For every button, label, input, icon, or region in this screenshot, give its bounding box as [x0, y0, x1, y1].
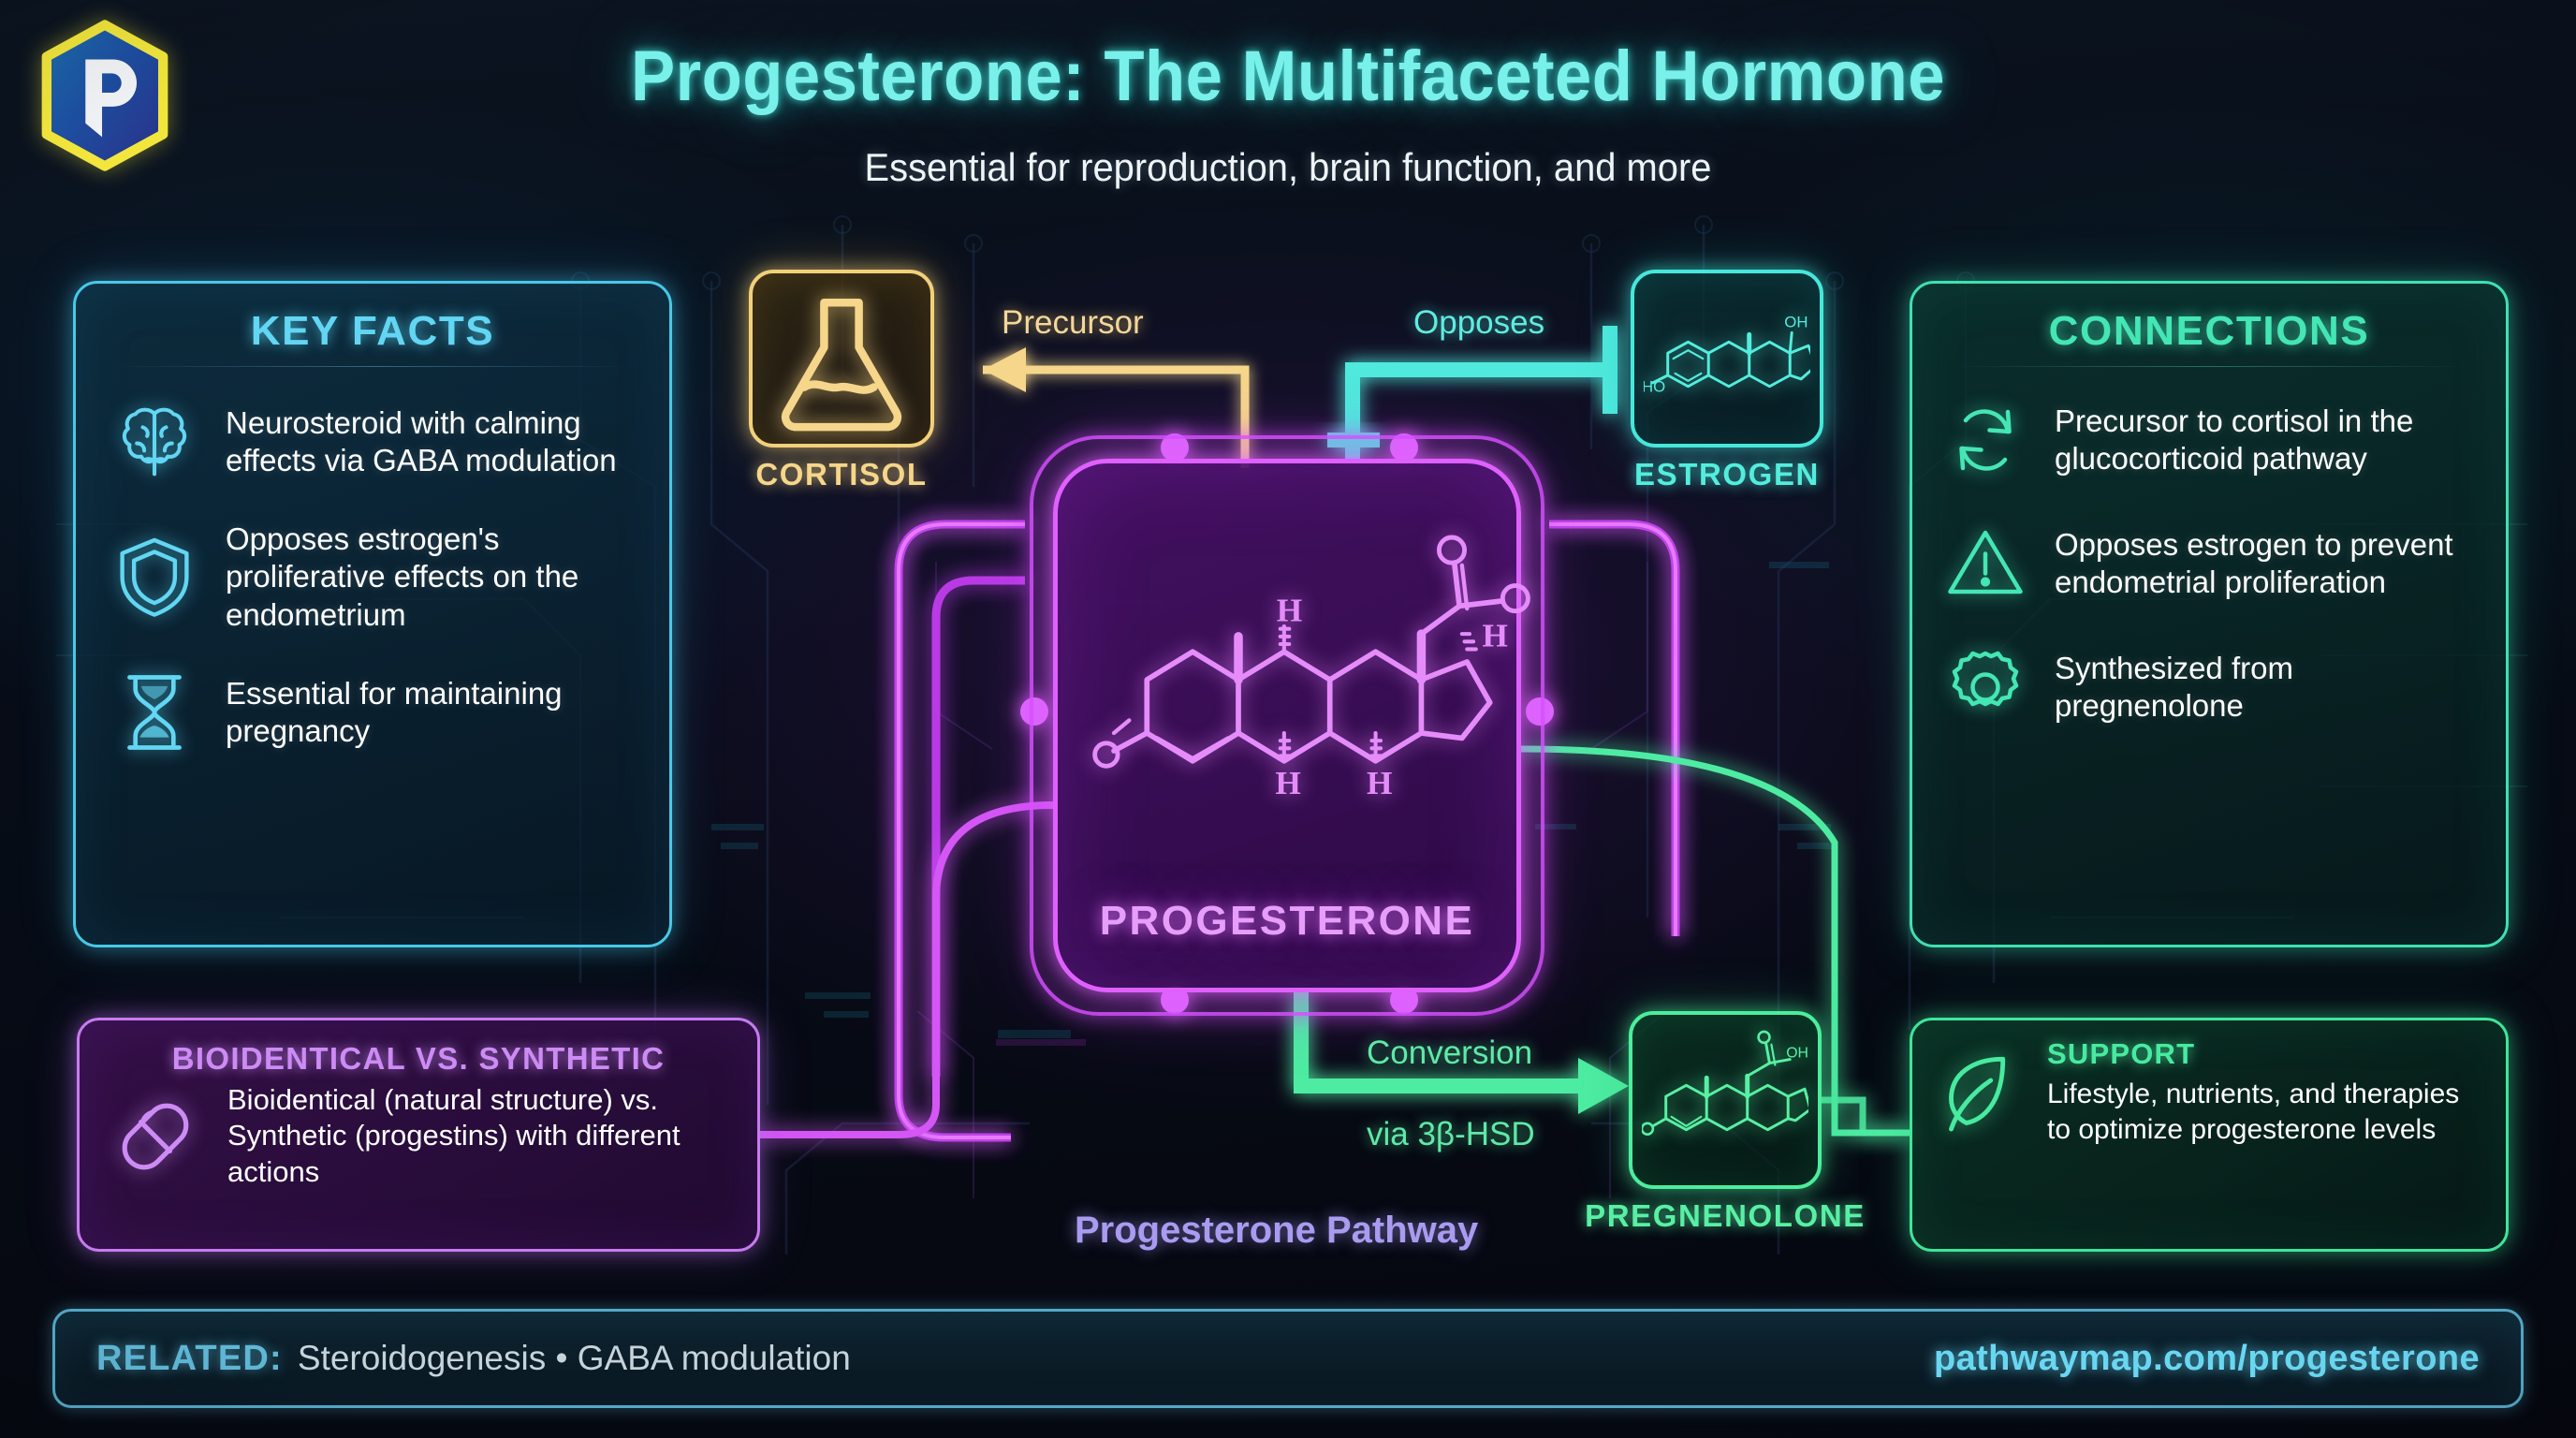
list-item: Precursor to cortisol in the glucocortic…	[1940, 395, 2478, 485]
list-item-text: Precursor to cortisol in the glucocortic…	[2055, 403, 2478, 478]
list-item: Essential for maintaining pregnancy	[108, 666, 637, 759]
list-item-text: Opposes estrogen to prevent endometrial …	[2055, 526, 2478, 602]
related-label: RELATED:	[96, 1339, 283, 1379]
list-item: Synthesized from pregnenolone	[1940, 642, 2478, 732]
svg-text:OH: OH	[1786, 1046, 1808, 1062]
list-item: Neurosteroid with calming effects via GA…	[108, 395, 637, 489]
svg-text:HO: HO	[1644, 378, 1665, 396]
support-panel: SUPPORT Lifestyle, nutrients, and therap…	[1910, 1018, 2509, 1252]
bioidentical-panel: BIOIDENTICAL VS. SYNTHETIC Bioidentical …	[77, 1018, 760, 1252]
capsule-pill-icon	[104, 1085, 207, 1188]
center-node-label: PROGESTERONE	[1058, 898, 1516, 945]
list-item: Opposes estrogen's proliferative effects…	[108, 521, 637, 634]
key-facts-title: KEY FACTS	[76, 284, 669, 355]
gear-icon	[1940, 642, 2030, 732]
connections-panel: CONNECTIONS Precursor to cortisol in the…	[1910, 281, 2509, 947]
pregnenolone-structure: OH	[1642, 1024, 1808, 1163]
svg-text:H: H	[1275, 765, 1300, 801]
list-item-text: Synthesized from pregnenolone	[2055, 650, 2478, 726]
precursor-arrowhead	[983, 347, 1026, 392]
connector-label-conversion-enzyme: via 3β-HSD	[1367, 1116, 1535, 1153]
divider	[115, 366, 630, 367]
infographic-canvas: Progesterone: The Multifaceted Hormone E…	[0, 0, 2576, 1438]
support-text: Lifestyle, nutrients, and therapies to o…	[2047, 1077, 2485, 1147]
estradiol-structure: HO OH	[1644, 283, 1810, 421]
svg-text:H: H	[1483, 618, 1508, 654]
svg-text:H: H	[1277, 593, 1302, 629]
conversion-arrowhead	[1578, 1058, 1629, 1114]
cortisol-node[interactable]: CORTISOL	[749, 270, 934, 448]
key-facts-panel: KEY FACTS Neurosteroid with calming effe…	[73, 281, 672, 947]
connector-label-precursor: Precursor	[1002, 304, 1144, 342]
source-url[interactable]: pathwaymap.com/progesterone	[1934, 1339, 2480, 1379]
estrogen-node[interactable]: HO OH ESTROGEN	[1631, 270, 1823, 448]
pregnenolone-node[interactable]: OH PREGNENOLONE	[1629, 1011, 1822, 1189]
bioidentical-title: BIOIDENTICAL VS. SYNTHETIC	[80, 1020, 757, 1082]
warning-triangle-icon	[1940, 519, 2030, 609]
refresh-cycle-icon	[1940, 395, 2030, 485]
svg-text:H: H	[1367, 765, 1392, 801]
support-title: SUPPORT	[2047, 1037, 2485, 1071]
list-item-text: Essential for maintaining pregnancy	[226, 675, 637, 751]
connector-bioidentical	[760, 805, 1053, 1135]
shield-icon	[108, 530, 201, 624]
estrogen-label: ESTROGEN	[1569, 457, 1885, 492]
list-item: Opposes estrogen to prevent endometrial …	[1940, 519, 2478, 609]
list-item-text: Neurosteroid with calming effects via GA…	[226, 404, 637, 480]
connections-list: Precursor to cortisol in the glucocortic…	[1912, 395, 2506, 732]
progesterone-center-node[interactable]: H H H H O PROGESTERONE	[1053, 459, 1521, 992]
hourglass-icon	[108, 666, 201, 759]
flask-icon	[762, 283, 921, 442]
svg-text:OH: OH	[1784, 313, 1808, 330]
page-title: Progesterone: The Multifaceted Hormone	[90, 36, 2485, 117]
connector-label-opposes: Opposes	[1413, 304, 1544, 342]
bioidentical-text: Bioidentical (natural structure) vs. Syn…	[227, 1082, 733, 1190]
brain-icon	[108, 395, 201, 489]
connections-title: CONNECTIONS	[1912, 284, 2506, 355]
connector-label-conversion: Conversion	[1367, 1034, 1532, 1072]
key-facts-list: Neurosteroid with calming effects via GA…	[76, 395, 669, 759]
pathway-caption: Progesterone Pathway	[1075, 1210, 1478, 1252]
list-item-text: Opposes estrogen's proliferative effects…	[226, 521, 637, 634]
progesterone-structure: H H H H O	[1078, 484, 1536, 840]
pregnenolone-label: PREGNENOLONE	[1567, 1198, 1883, 1234]
leaf-icon	[1933, 1044, 2030, 1141]
page-subtitle: Essential for reproduction, brain functi…	[65, 145, 2511, 190]
opposes-inhibit-bar-right	[1603, 326, 1617, 414]
related-text: Steroidogenesis • GABA modulation	[298, 1339, 851, 1378]
divider	[1952, 366, 2466, 367]
cortisol-label: CORTISOL	[687, 457, 996, 492]
footer-bar: RELATED: Steroidogenesis • GABA modulati…	[52, 1309, 2524, 1408]
